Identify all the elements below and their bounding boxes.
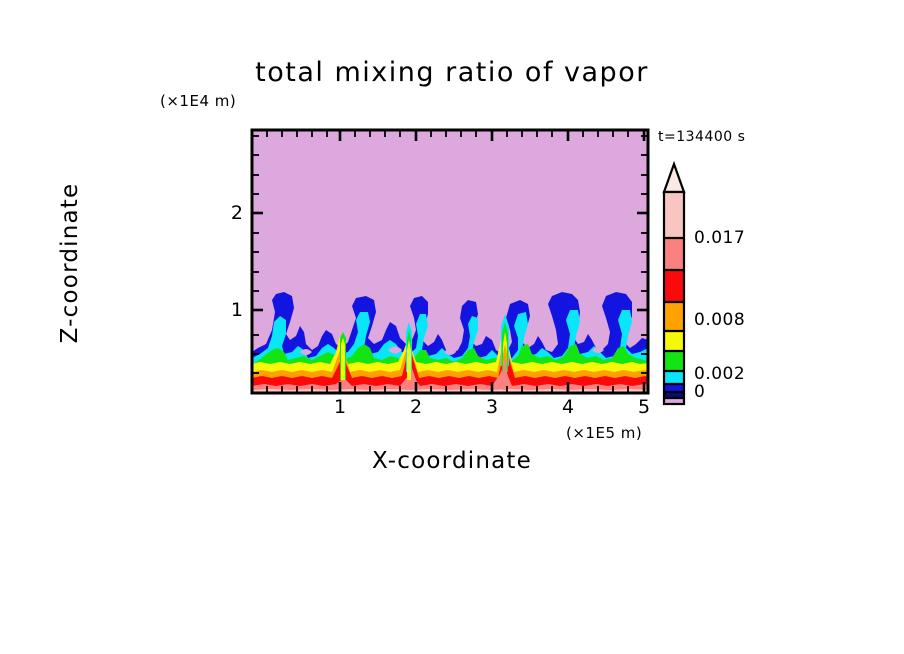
colorbar-band-salmon: [664, 238, 684, 270]
colorbar-band-cyan: [664, 371, 684, 384]
colorbar-overflow-arrow: [664, 164, 684, 192]
contour-field: [252, 130, 648, 393]
plot-svg: [0, 0, 904, 654]
colorbar-band-orange: [664, 302, 684, 331]
figure-canvas: total mixing ratio of vapor (×1E4 m) (×1…: [0, 0, 904, 654]
colorbar: [664, 164, 684, 404]
colorbar-band-red: [664, 270, 684, 302]
colorbar-band-green: [664, 351, 684, 371]
colorbar-band-pale-pink: [664, 192, 684, 238]
field-spike: [341, 338, 345, 380]
colorbar-band-blue: [664, 384, 684, 392]
colorbar-band-yellow: [664, 331, 684, 351]
